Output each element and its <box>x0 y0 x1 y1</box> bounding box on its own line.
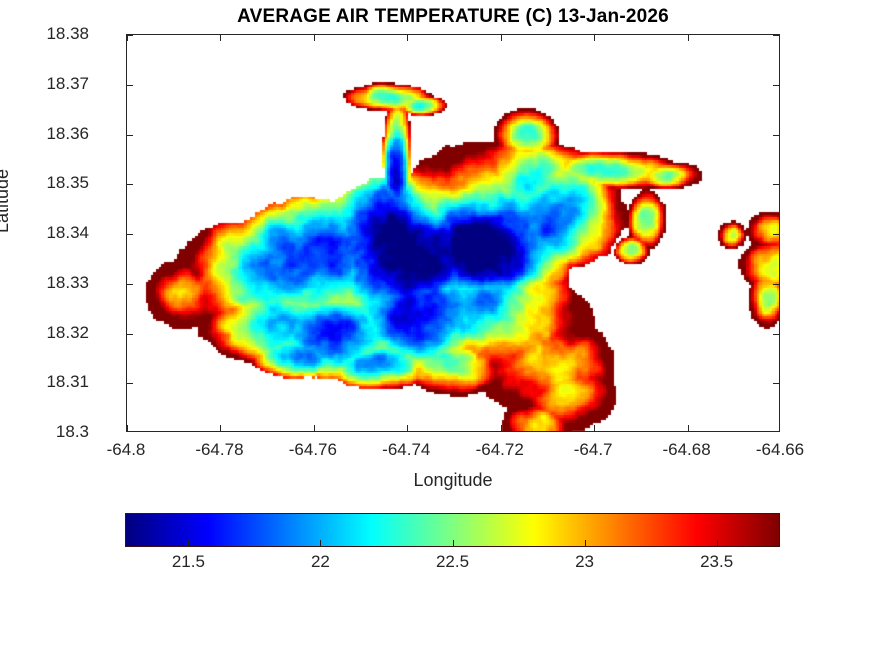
y-tick-label: 18.32 <box>46 323 89 343</box>
x-tick-label: -64.8 <box>107 440 146 460</box>
colorbar-tick-mark <box>453 540 454 547</box>
y-tick-label: 18.35 <box>46 173 89 193</box>
x-tick-label: -64.68 <box>662 440 710 460</box>
colorbar-tick-mark <box>585 540 586 547</box>
y-tick-label: 18.3 <box>56 422 89 442</box>
colorbar-tick-label: 22.5 <box>436 552 469 572</box>
x-tick-label: -64.76 <box>289 440 337 460</box>
y-tick-mark <box>127 135 133 136</box>
y-tick-mark <box>127 383 133 384</box>
x-tick-label: -64.7 <box>574 440 613 460</box>
y-tick-mark <box>127 284 133 285</box>
colorbar-tick-mark <box>717 540 718 547</box>
colorbar-tick-mark <box>188 540 189 547</box>
x-tick-label: -64.72 <box>476 440 524 460</box>
chart-title: AVERAGE AIR TEMPERATURE (C) 13-Jan-2026 <box>126 6 780 28</box>
colorbar-tick-mark <box>320 540 321 547</box>
y-tick-label: 18.33 <box>46 273 89 293</box>
x-tick-mark <box>407 425 408 431</box>
colorbar-tick-label: 23.5 <box>700 552 733 572</box>
figure-canvas: AVERAGE AIR TEMPERATURE (C) 13-Jan-2026 … <box>0 0 875 656</box>
y-tick-mark <box>773 85 779 86</box>
y-tick-mark <box>773 284 779 285</box>
x-tick-label: -64.74 <box>382 440 430 460</box>
x-tick-mark <box>407 35 408 41</box>
y-tick-label: 18.38 <box>46 24 89 44</box>
y-tick-mark <box>773 135 779 136</box>
y-tick-mark <box>127 334 133 335</box>
x-axis-label: Longitude <box>126 470 780 491</box>
y-tick-label: 18.31 <box>46 372 89 392</box>
x-tick-mark <box>220 425 221 431</box>
colorbar-tick-label: 21.5 <box>172 552 205 572</box>
y-tick-mark <box>773 383 779 384</box>
colorbar-tick-label: 23 <box>575 552 594 572</box>
x-tick-mark <box>594 425 595 431</box>
x-tick-mark <box>688 425 689 431</box>
y-tick-mark <box>773 184 779 185</box>
y-tick-mark <box>773 334 779 335</box>
y-tick-label: 18.36 <box>46 124 89 144</box>
y-tick-mark <box>127 234 133 235</box>
x-tick-mark <box>314 35 315 41</box>
x-tick-mark <box>127 35 128 41</box>
x-tick-mark <box>688 35 689 41</box>
x-tick-label: -64.66 <box>756 440 804 460</box>
x-tick-mark <box>501 35 502 41</box>
colorbar[interactable] <box>125 513 780 547</box>
colorbar-tick-label: 22 <box>311 552 330 572</box>
x-tick-mark <box>220 35 221 41</box>
y-axis-label: Latitude <box>0 169 13 233</box>
x-tick-mark <box>501 425 502 431</box>
temperature-heatmap <box>127 35 780 432</box>
y-tick-label: 18.34 <box>46 223 89 243</box>
map-axes[interactable] <box>126 34 780 432</box>
x-tick-mark <box>127 425 128 431</box>
y-tick-mark <box>773 35 779 36</box>
x-tick-mark <box>594 35 595 41</box>
x-tick-mark <box>314 425 315 431</box>
y-tick-mark <box>127 184 133 185</box>
y-tick-mark <box>127 85 133 86</box>
y-tick-mark <box>773 234 779 235</box>
x-tick-label: -64.78 <box>195 440 243 460</box>
y-tick-label: 18.37 <box>46 74 89 94</box>
